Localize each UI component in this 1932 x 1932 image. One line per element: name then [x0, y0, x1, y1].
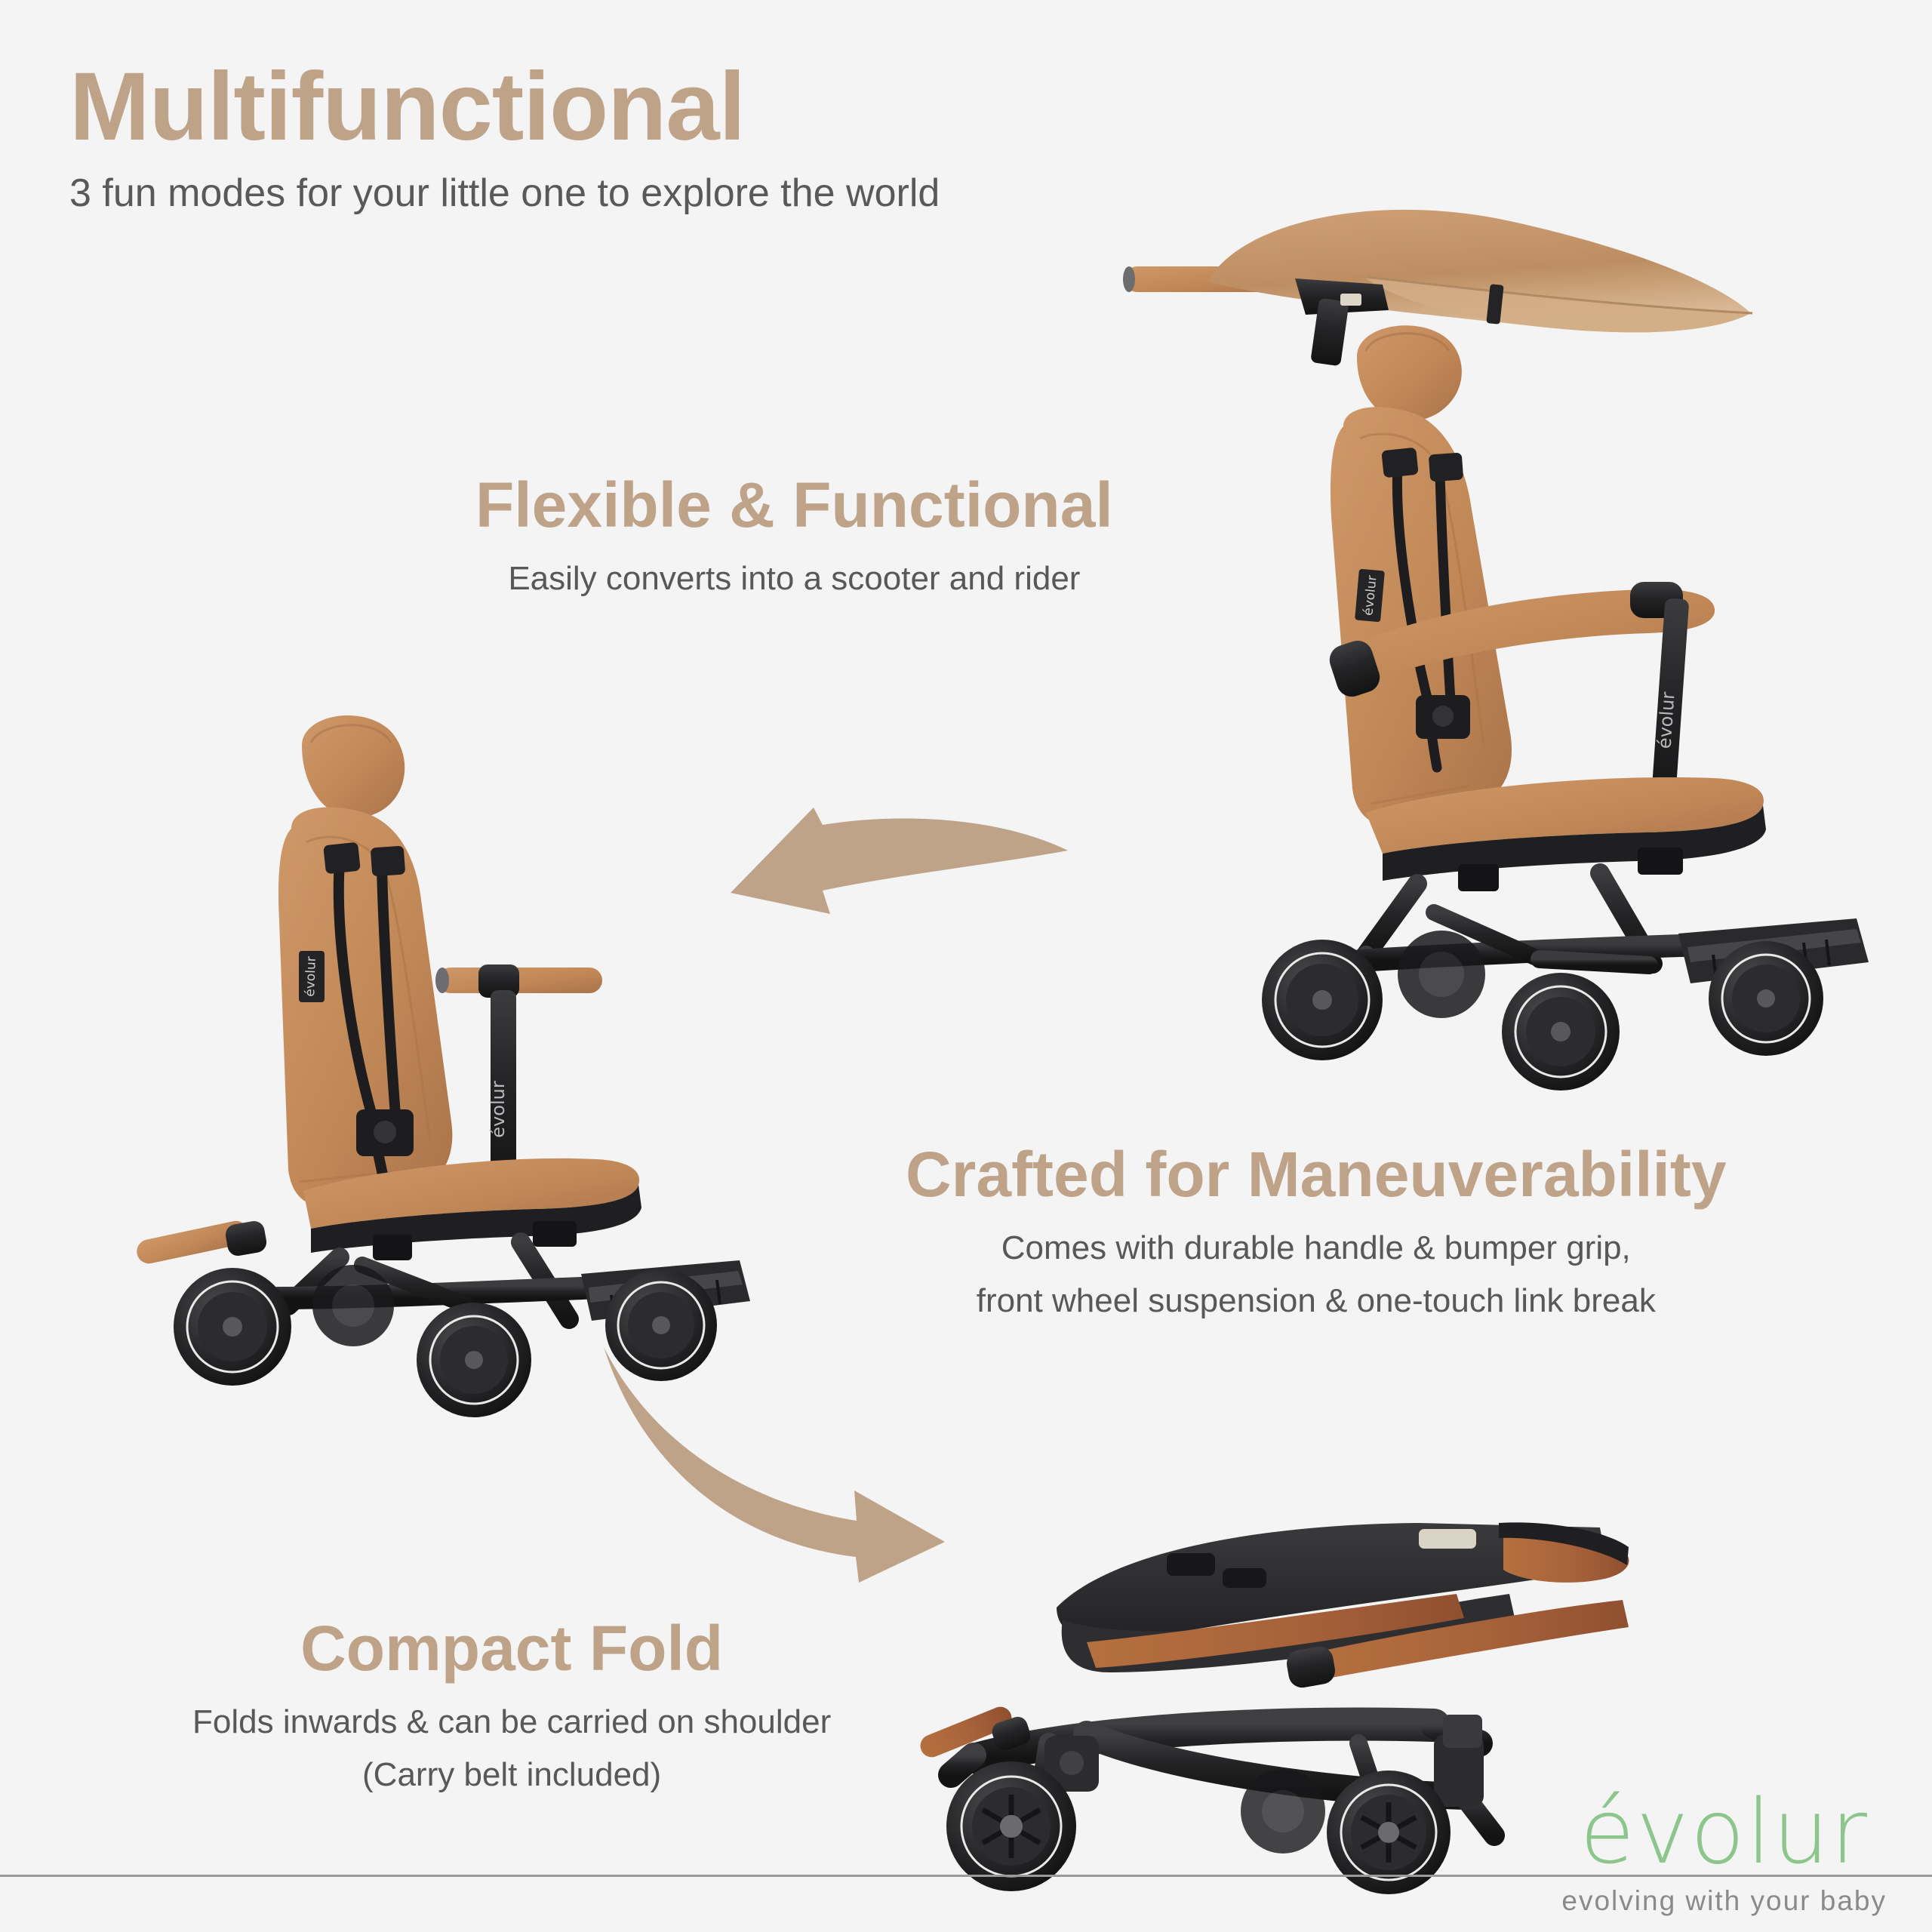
product-image-rider-mode: évolur évolur — [113, 702, 777, 1336]
brand-logo: évolur evolving with your baby — [1561, 1787, 1887, 1915]
product-image-folded — [860, 1494, 1675, 1894]
headrest — [1357, 325, 1462, 421]
section-flexible-body-line1: Easily converts into a scooter and rider — [475, 555, 1113, 603]
wheel-front-center — [417, 1303, 531, 1417]
headrest — [302, 715, 405, 818]
brand-logo-wordmark: évolur — [1561, 1787, 1887, 1876]
canopy — [1207, 210, 1752, 332]
section-compact-body-line1: Folds inwards & can be carried on should… — [192, 1698, 831, 1746]
product-image-stroller-mode: évolur — [1117, 200, 1917, 1045]
section-flexible: Flexible & Functional Easily converts in… — [475, 472, 1113, 603]
svg-text:évolur: évolur — [488, 1081, 509, 1138]
wheel-left — [946, 1761, 1076, 1891]
wheel-inner — [312, 1265, 394, 1346]
header-block: Multifunctional 3 fun modes for your lit… — [69, 59, 940, 218]
svg-text:évolur: évolur — [303, 956, 319, 997]
front-grip — [134, 1219, 268, 1266]
section-compact-fold: Compact Fold Folds inwards & can be carr… — [192, 1615, 831, 1799]
section-maneuverability-heading: Crafted for Maneuverability — [906, 1141, 1727, 1207]
infographic-canvas: Multifunctional 3 fun modes for your lit… — [0, 0, 1932, 1932]
seat-brand-tag: évolur — [299, 951, 325, 1002]
svg-text:évolur: évolur — [1654, 691, 1678, 749]
section-flexible-heading: Flexible & Functional — [475, 472, 1113, 538]
section-maneuverability-body-line2: front wheel suspension & one-touch link … — [906, 1277, 1727, 1325]
wheel-rear-hidden — [1241, 1769, 1325, 1854]
wheel-rear-right — [1709, 941, 1823, 1056]
wheel-front-inner — [1398, 931, 1485, 1018]
wheel-rear-left — [1262, 940, 1383, 1060]
page-subtitle: 3 fun modes for your little one to explo… — [69, 169, 940, 218]
section-compact-body-line2: (Carry belt included) — [192, 1751, 831, 1799]
wheel-rear-right — [605, 1269, 717, 1381]
section-compact-heading: Compact Fold — [192, 1615, 831, 1681]
page-title: Multifunctional — [69, 59, 940, 155]
seat-brand-tag: évolur — [1355, 569, 1385, 623]
section-maneuverability: Crafted for Maneuverability Comes with d… — [906, 1141, 1727, 1325]
wheel-front-left — [174, 1268, 291, 1386]
section-maneuverability-body-line1: Comes with durable handle & bumper grip, — [906, 1224, 1727, 1272]
wheel-front-center — [1502, 973, 1620, 1091]
brand-logo-tagline: evolving with your baby — [1561, 1887, 1887, 1915]
